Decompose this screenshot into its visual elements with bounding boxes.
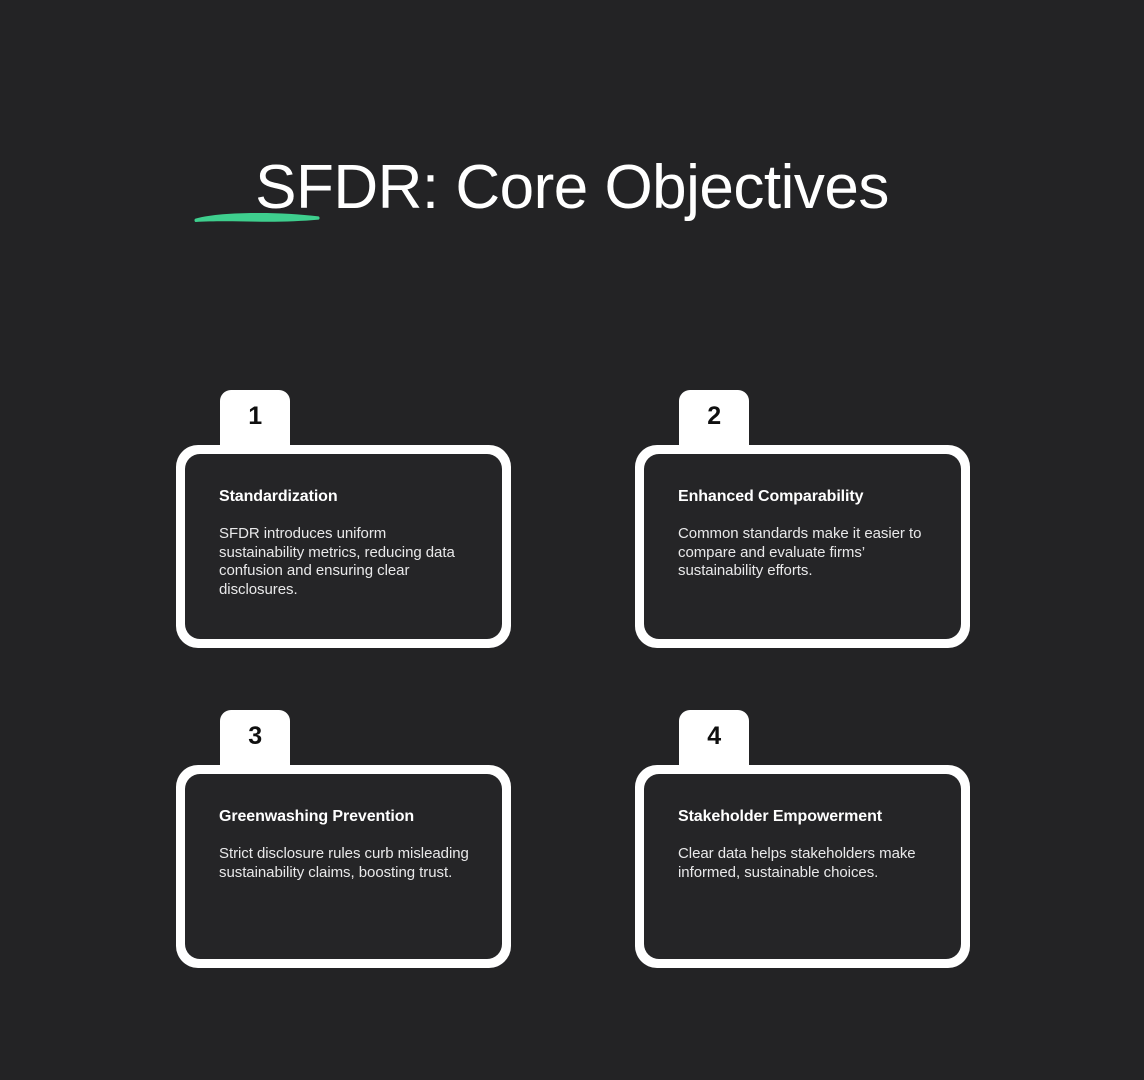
card-frame: Standardization SFDR introduces uniform … (176, 445, 511, 648)
objective-card[interactable]: 1 Standardization SFDR introduces unifor… (176, 390, 511, 648)
card-frame: Enhanced Comparability Common standards … (635, 445, 970, 648)
card-grid: 1 Standardization SFDR introduces unifor… (176, 390, 970, 968)
objective-card[interactable]: 2 Enhanced Comparability Common standard… (635, 390, 970, 648)
card-heading: Standardization (219, 487, 470, 507)
page-title: SFDR: Core Objectives (255, 148, 889, 228)
card-frame: Greenwashing Prevention Strict disclosur… (176, 765, 511, 968)
card-number: 2 (707, 401, 720, 431)
card-heading: Enhanced Comparability (678, 487, 929, 507)
card-inner: Enhanced Comparability Common standards … (644, 454, 961, 639)
card-inner: Greenwashing Prevention Strict disclosur… (185, 774, 502, 959)
card-heading: Stakeholder Empowerment (678, 807, 929, 827)
card-heading: Greenwashing Prevention (219, 807, 470, 827)
card-body: Strict disclosure rules curb misleading … (219, 845, 470, 882)
card-body: SFDR introduces uniform sustainability m… (219, 525, 470, 599)
objective-card[interactable]: 4 Stakeholder Empowerment Clear data hel… (635, 710, 970, 968)
card-inner: Standardization SFDR introduces uniform … (185, 454, 502, 639)
card-number-tab: 3 (220, 710, 290, 772)
card-body: Common standards make it easier to compa… (678, 525, 929, 581)
card-number-tab: 1 (220, 390, 290, 452)
objective-card[interactable]: 3 Greenwashing Prevention Strict disclos… (176, 710, 511, 968)
card-inner: Stakeholder Empowerment Clear data helps… (644, 774, 961, 959)
card-number: 3 (248, 721, 261, 751)
card-number: 4 (707, 721, 720, 751)
card-number: 1 (248, 401, 261, 431)
card-frame: Stakeholder Empowerment Clear data helps… (635, 765, 970, 968)
title-block: SFDR: Core Objectives (0, 148, 1144, 228)
card-body: Clear data helps stakeholders make infor… (678, 845, 929, 882)
card-number-tab: 2 (679, 390, 749, 452)
card-number-tab: 4 (679, 710, 749, 772)
